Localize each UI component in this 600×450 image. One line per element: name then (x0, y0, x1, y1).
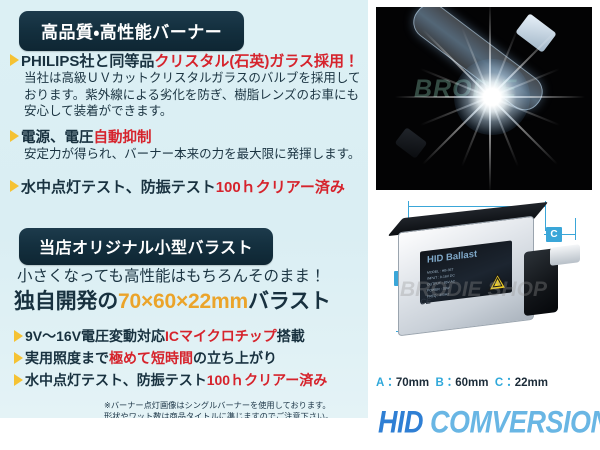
feature-bullet-5-post: の立ち上がり (193, 348, 277, 368)
disclaimer-line-1: ※バーナー点灯画像はシングルバーナーを使用しております。 (104, 400, 333, 411)
bulb-tail-cap (395, 127, 428, 159)
feature-bullet-3-dark: 水中点灯テスト、防振テスト (21, 176, 216, 197)
dimension-legend: A：70mm B：60mm C：22mm (376, 374, 548, 390)
feature-bullet-4-highlight: ICマイクロチップ (165, 326, 277, 346)
bullet-triangle-icon (10, 130, 19, 142)
legend-key-c: C： (495, 377, 515, 389)
feature-bullet-6-highlight: 100ｈクリアー済み (207, 370, 328, 390)
dimension-marker-c: C (546, 227, 562, 242)
feature-bullet-3: 水中点灯テスト、防振テスト 100ｈクリアー済み (10, 176, 345, 197)
ballast-headline: 独自開発の70×60×22mmバラスト (14, 285, 331, 315)
feature-bullet-4: 9V〜16V電圧変動対応 ICマイクロチップ 搭載 (14, 326, 305, 346)
bullet-triangle-icon (14, 374, 23, 386)
bullet-triangle-icon (10, 180, 19, 192)
legend-key-b: B： (435, 377, 455, 389)
ballast-label-title: HID Ballast (427, 249, 477, 266)
feature-bullet-1-body: 当社は高級ＵＶカットクリスタルガラスのバルブを採用して おります。紫外線による劣… (24, 70, 361, 120)
feature-bullet-1-dark: PHILIPS社と同等品 (21, 50, 154, 71)
ballast-tagline: 小さくなっても高性能はもちろんそのまま！ (17, 264, 325, 286)
section-badge-burner: 高品質・高性能バーナー (19, 11, 244, 51)
hid-conversion-kit-logo: HID COMVERSION KIT (378, 404, 600, 441)
left-content-panel: 高品質・高性能バーナー PHILIPS社と同等品 クリスタル(石英)ガラス採用！… (0, 0, 368, 418)
legend-value-b: 60mm (455, 377, 488, 389)
feature-bullet-2-body: 安定力が得られ、バーナー本来の力を最大限に発揮します。 (24, 146, 360, 163)
right-image-panel: BRODIE A B C (368, 0, 600, 450)
ballast-photo-with-dimensions: A B C HID Ballast MODEL : HB-35T INPUT :… (372, 198, 596, 370)
feature-bullet-2-body-line1: 安定力が得られ、バーナー本来の力を最大限に発揮します。 (24, 146, 360, 163)
feature-bullet-6-dark: 水中点灯テスト、防振テスト (25, 370, 207, 390)
feature-bullet-5: 実用照度まで 極めて短時間 の立ち上がり (14, 348, 277, 368)
logo-hid-text: HID (378, 404, 423, 439)
feature-bullet-1-body-line3: 安心して装着ができます。 (24, 103, 361, 120)
bulb-base-connector (515, 13, 557, 53)
legend-value-c: 22mm (515, 377, 548, 389)
hid-bulb-photo: BRODIE (376, 7, 592, 190)
bottom-white-strip (0, 418, 368, 450)
feature-bullet-1-highlight: クリスタル(石英)ガラス採用！ (154, 50, 359, 71)
ballast-plug (550, 244, 580, 266)
feature-bullet-2-dark: 電源、電圧 (21, 126, 94, 147)
ballast-headline-pre: 独自開発の (14, 290, 118, 313)
legend-value-a: 70mm (396, 377, 429, 389)
legend-key-a: A： (376, 377, 396, 389)
ballast-headline-post: バラスト (248, 290, 331, 313)
feature-bullet-1: PHILIPS社と同等品 クリスタル(石英)ガラス採用！ (10, 50, 359, 71)
bullet-triangle-icon (10, 54, 19, 66)
feature-bullet-2: 電源、電圧 自動抑制 (10, 126, 152, 147)
dimension-tick-c-right (575, 218, 576, 240)
dimension-tick-b-left (408, 201, 409, 219)
feature-bullet-4-dark: 9V〜16V電圧変動対応 (25, 326, 165, 346)
feature-bullet-1-body-line1: 当社は高級ＵＶカットクリスタルガラスのバルブを採用して (24, 70, 361, 87)
ballast-dimensions-highlight: 70×60×22mm (118, 290, 248, 313)
bullet-triangle-icon (14, 352, 23, 364)
feature-bullet-6: 水中点灯テスト、防振テスト 100ｈクリアー済み (14, 370, 327, 390)
advertisement-banner: 高品質・高性能バーナー PHILIPS社と同等品 クリスタル(石英)ガラス採用！… (0, 0, 600, 450)
feature-bullet-3-highlight: 100ｈクリアー済み (216, 176, 345, 197)
logo-conversion-kit-text: COMVERSION KIT (423, 404, 600, 439)
feature-bullet-4-post: 搭載 (277, 326, 305, 346)
bullet-triangle-icon (14, 330, 23, 342)
feature-bullet-1-body-line2: おります。紫外線による劣化を防ぎ、樹脂レンズのお車にも (24, 87, 361, 104)
ballast-photo-watermark: BRODIE SHOP (400, 278, 547, 302)
feature-bullet-5-highlight: 極めて短時間 (109, 348, 193, 368)
feature-bullet-2-highlight: 自動抑制 (94, 126, 152, 147)
feature-bullet-5-pre: 実用照度まで (25, 348, 109, 368)
light-flare-core (454, 59, 530, 135)
section-badge-ballast: 当店オリジナル小型バラスト (19, 228, 273, 265)
